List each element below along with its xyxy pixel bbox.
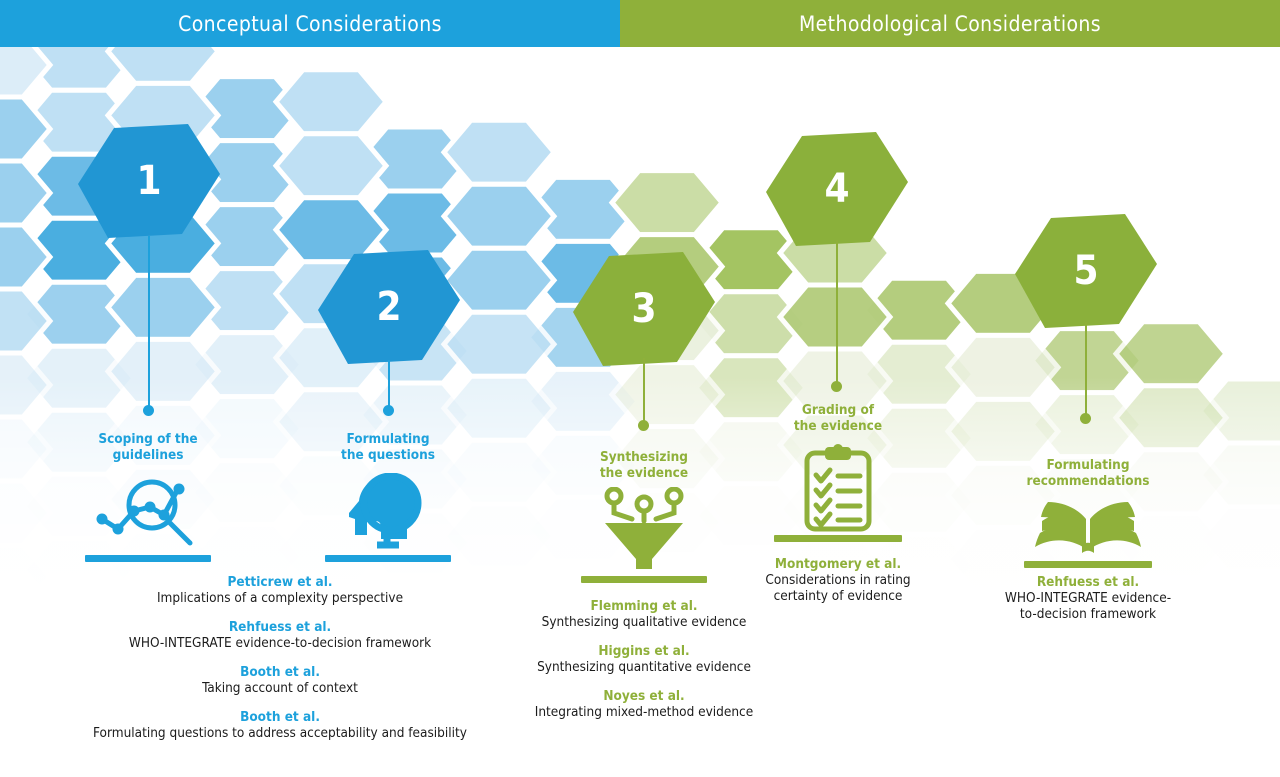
step-underline-3 <box>581 576 707 583</box>
step-title-2-line1: Formulating <box>346 431 429 447</box>
step-leader-dot-4 <box>831 381 842 392</box>
step-underline-1 <box>85 555 211 562</box>
reference-list-conceptual: Petticrew et al. Implications of a compl… <box>20 574 540 754</box>
reference-title-line1: WHO-INTEGRATE evidence- <box>1005 590 1171 606</box>
reference-title: WHO-INTEGRATE evidence-to-decision frame… <box>20 635 540 651</box>
reference-title: Taking account of context <box>20 680 540 696</box>
step-title-4: Grading of the evidence <box>752 403 924 434</box>
step-column-5: Formulating recommendations <box>1000 458 1176 568</box>
step-title-4-line2: the evidence <box>794 418 882 434</box>
step-title-4-line1: Grading of <box>802 402 874 418</box>
head-question-icon <box>298 471 478 549</box>
reference-author: Petticrew et al. <box>20 574 540 590</box>
step-title-3-line1: Synthesizing <box>600 449 688 465</box>
step-hexagon-4: 4 <box>766 130 908 248</box>
step-title-1: Scoping of the guidelines <box>62 432 234 463</box>
step-hexagon-2: 2 <box>318 248 460 366</box>
step-number-2: 2 <box>318 248 460 366</box>
step-column-4: Grading of the evidence <box>752 403 924 542</box>
header-banner-conceptual: Conceptual Considerations <box>0 0 620 47</box>
reference-item: Rehfuess et al. WHO-INTEGRATE evidence- … <box>992 574 1184 622</box>
open-book-icon <box>1000 497 1176 559</box>
step-underline-4 <box>774 535 902 542</box>
step-underline-5 <box>1024 561 1152 568</box>
step-marker-5[interactable]: 5 <box>1015 212 1157 330</box>
step-marker-3[interactable]: 3 <box>573 250 715 368</box>
reference-title: Formulating questions to address accepta… <box>20 725 540 741</box>
header-label-methodological: Methodological Considerations <box>799 12 1101 36</box>
reference-title: Synthesizing quantitative evidence <box>508 659 780 675</box>
reference-title: Considerations in rating certainty of ev… <box>744 572 932 604</box>
infographic-canvas: Conceptual Considerations Methodological… <box>0 0 1280 777</box>
step-title-2: Formulating the questions <box>298 432 478 463</box>
step-leader-line-5 <box>1085 322 1087 420</box>
reference-author: Rehfuess et al. <box>992 574 1184 590</box>
reference-list-recommendations: Rehfuess et al. WHO-INTEGRATE evidence- … <box>992 574 1184 635</box>
step-number-5: 5 <box>1015 212 1157 330</box>
reference-title: WHO-INTEGRATE evidence- to-decision fram… <box>992 590 1184 622</box>
reference-item: Flemming et al. Synthesizing qualitative… <box>508 598 780 630</box>
reference-item: Rehfuess et al. WHO-INTEGRATE evidence-t… <box>20 619 540 651</box>
reference-author: Booth et al. <box>20 664 540 680</box>
step-leader-dot-5 <box>1080 413 1091 424</box>
reference-item: Noyes et al. Integrating mixed-method ev… <box>508 688 780 720</box>
step-hexagon-1: 1 <box>78 122 220 240</box>
step-number-1: 1 <box>78 122 220 240</box>
step-leader-dot-2 <box>383 405 394 416</box>
reference-title-line2: to-decision framework <box>1020 606 1156 622</box>
header-label-conceptual: Conceptual Considerations <box>178 12 442 36</box>
reference-item: Higgins et al. Synthesizing quantitative… <box>508 643 780 675</box>
step-title-1-line2: guidelines <box>113 447 184 463</box>
reference-title: Integrating mixed-method evidence <box>508 704 780 720</box>
reference-title: Implications of a complexity perspective <box>20 590 540 606</box>
reference-author: Higgins et al. <box>508 643 780 659</box>
reference-author: Rehfuess et al. <box>20 619 540 635</box>
step-marker-2[interactable]: 2 <box>318 248 460 366</box>
reference-title-line1: Considerations in rating <box>765 572 910 588</box>
funnel-icon <box>558 487 730 571</box>
step-number-4: 4 <box>766 130 908 248</box>
step-underline-2 <box>325 555 451 562</box>
step-leader-line-4 <box>836 240 838 388</box>
reference-list-synthesis: Flemming et al. Synthesizing qualitative… <box>508 598 780 733</box>
step-title-1-line1: Scoping of the <box>98 431 197 447</box>
step-leader-dot-3 <box>638 420 649 431</box>
reference-item: Booth et al. Taking account of context <box>20 664 540 696</box>
step-title-3-line2: the evidence <box>600 465 688 481</box>
reference-author: Noyes et al. <box>508 688 780 704</box>
reference-title-line2: certainty of evidence <box>774 588 903 604</box>
reference-author: Booth et al. <box>20 709 540 725</box>
reference-item: Booth et al. Formulating questions to ad… <box>20 709 540 741</box>
reference-item: Montgomery et al. Considerations in rati… <box>744 556 932 604</box>
reference-author: Montgomery et al. <box>744 556 932 572</box>
step-title-5-line1: Formulating <box>1046 457 1129 473</box>
step-leader-dot-1 <box>143 405 154 416</box>
step-marker-4[interactable]: 4 <box>766 130 908 248</box>
step-number-3: 3 <box>573 250 715 368</box>
step-marker-1[interactable]: 1 <box>78 122 220 240</box>
reference-item: Petticrew et al. Implications of a compl… <box>20 574 540 606</box>
step-column-3: Synthesizing the evidence <box>558 450 730 583</box>
step-leader-line-1 <box>148 236 150 412</box>
step-hexagon-3: 3 <box>573 250 715 368</box>
step-title-5: Formulating recommendations <box>1000 458 1176 489</box>
clipboard-checklist-icon <box>752 440 924 532</box>
reference-title: Synthesizing qualitative evidence <box>508 614 780 630</box>
step-title-3: Synthesizing the evidence <box>558 450 730 481</box>
step-title-5-line2: recommendations <box>1026 473 1149 489</box>
reference-list-grading: Montgomery et al. Considerations in rati… <box>744 556 932 617</box>
step-leader-line-3 <box>643 358 645 428</box>
magnifier-chart-icon <box>62 471 234 549</box>
reference-author: Flemming et al. <box>508 598 780 614</box>
step-hexagon-5: 5 <box>1015 212 1157 330</box>
step-column-2: Formulating the questions <box>298 432 478 562</box>
step-column-1: Scoping of the guidelines <box>62 432 234 562</box>
header-banner-methodological: Methodological Considerations <box>620 0 1280 47</box>
step-title-2-line2: the questions <box>341 447 435 463</box>
